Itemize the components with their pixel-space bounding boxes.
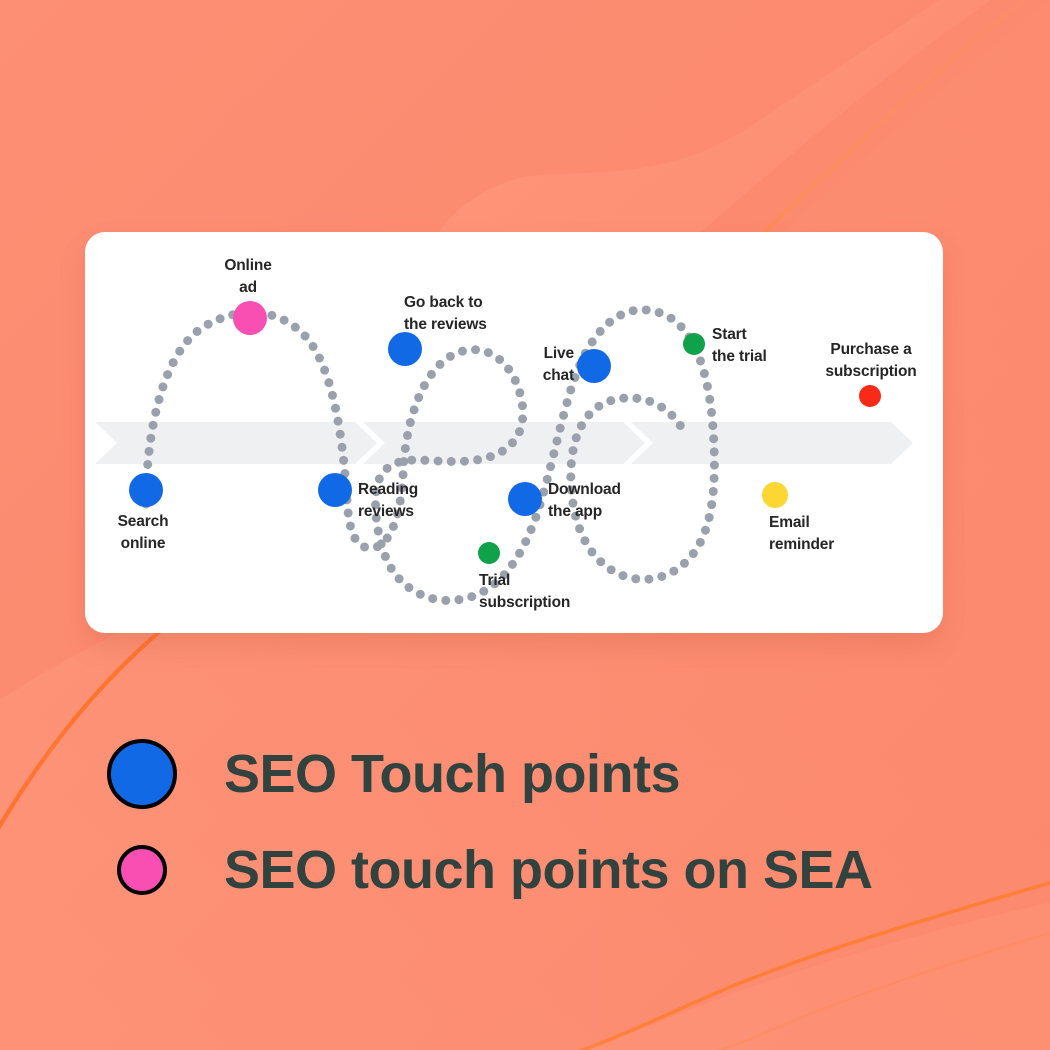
legend-label-sea: SEO touch points on SEA	[224, 843, 873, 897]
legend-label-seo: SEO Touch points	[224, 747, 680, 801]
node-label-purchase-a-subscription: Purchase a subscription	[825, 339, 916, 383]
node-label-email-reminder: Email reminder	[769, 512, 834, 556]
node-label-search-online: Search online	[118, 511, 169, 555]
node-marker-email-reminder[interactable]	[762, 482, 788, 508]
legend-swatch-sea	[117, 845, 167, 895]
legend-item-seo-touch-points[interactable]: SEO Touch points	[100, 726, 980, 822]
band-segment-3	[631, 422, 913, 464]
node-marker-online-ad[interactable]	[233, 301, 267, 335]
band-segment-1	[95, 422, 377, 464]
legend-item-seo-touch-points-on-sea[interactable]: SEO touch points on SEA	[100, 822, 980, 918]
node-marker-reading-reviews[interactable]	[318, 473, 352, 507]
node-marker-trial-subscription[interactable]	[478, 542, 500, 564]
node-label-online-ad: Online ad	[224, 255, 271, 299]
node-label-go-back-to-the-reviews: Go back to the reviews	[404, 292, 487, 336]
node-marker-download-the-app[interactable]	[508, 482, 542, 516]
node-label-live-chat: Live chat	[543, 343, 574, 387]
node-marker-search-online[interactable]	[129, 473, 163, 507]
node-label-download-the-app: Download the app	[548, 479, 621, 523]
node-label-reading-reviews: Reading reviews	[358, 479, 418, 523]
journey-band	[95, 422, 913, 464]
legend: SEO Touch points SEO touch points on SEA	[100, 726, 980, 918]
node-marker-start-the-trial[interactable]	[683, 333, 705, 355]
node-label-start-the-trial: Start the trial	[712, 324, 767, 368]
node-marker-go-back-to-the-reviews[interactable]	[388, 332, 422, 366]
legend-swatch-seo	[107, 739, 177, 809]
node-label-trial-subscription: Trial subscription	[479, 570, 570, 614]
node-marker-purchase-a-subscription[interactable]	[859, 385, 881, 407]
node-marker-live-chat[interactable]	[577, 349, 611, 383]
